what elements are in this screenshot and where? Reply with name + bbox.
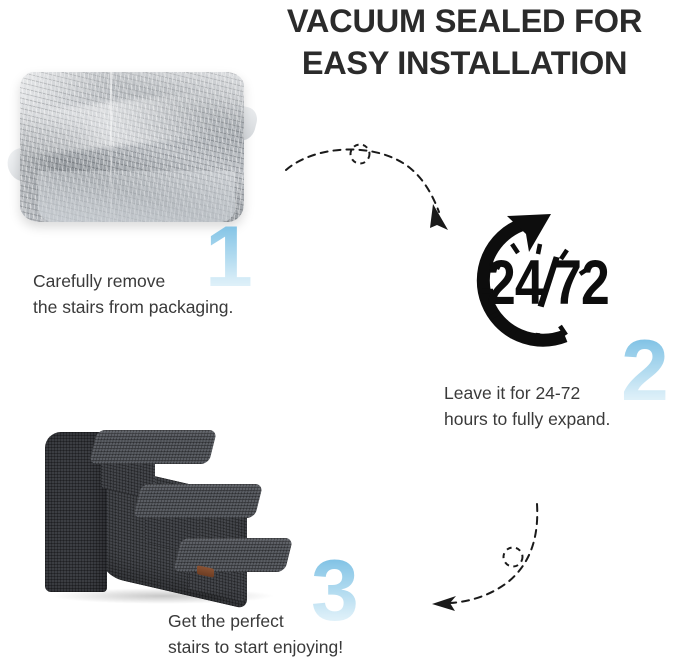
- clock-24-72-icon: 24/72: [443, 208, 643, 348]
- pet-stairs-photo: [45, 420, 288, 600]
- stairs-tread-2: [133, 484, 263, 518]
- infographic-root: VACUUM SEALED FOR EASY INSTALLATION 1 Ca…: [0, 0, 679, 663]
- step-caption-1: Carefully remove the stairs from packagi…: [33, 268, 233, 320]
- step-number-2: 2: [621, 328, 669, 414]
- stairs-tread-1: [89, 430, 217, 464]
- arrow-step-2-to-3: [420, 498, 600, 628]
- clock-hours-label: 24/72: [487, 252, 609, 315]
- clock-hours-long: 72: [553, 248, 609, 318]
- title-line-1: VACUUM SEALED FOR: [250, 0, 679, 42]
- arrow-step-1-to-2: [282, 142, 462, 234]
- step-caption-2: Leave it for 24-72 hours to fully expand…: [444, 380, 610, 432]
- pack-bag: [20, 72, 244, 222]
- step-caption-3: Get the perfect stairs to start enjoying…: [168, 608, 343, 660]
- title-line-2: EASY INSTALLATION: [250, 42, 679, 84]
- stairs-ground-shadow: [51, 588, 275, 604]
- page-title: VACUUM SEALED FOR EASY INSTALLATION: [250, 0, 679, 84]
- pet-stairs-body: [45, 420, 288, 600]
- stairs-tread-3: [173, 538, 293, 572]
- clock-hours-short: 24: [487, 248, 543, 318]
